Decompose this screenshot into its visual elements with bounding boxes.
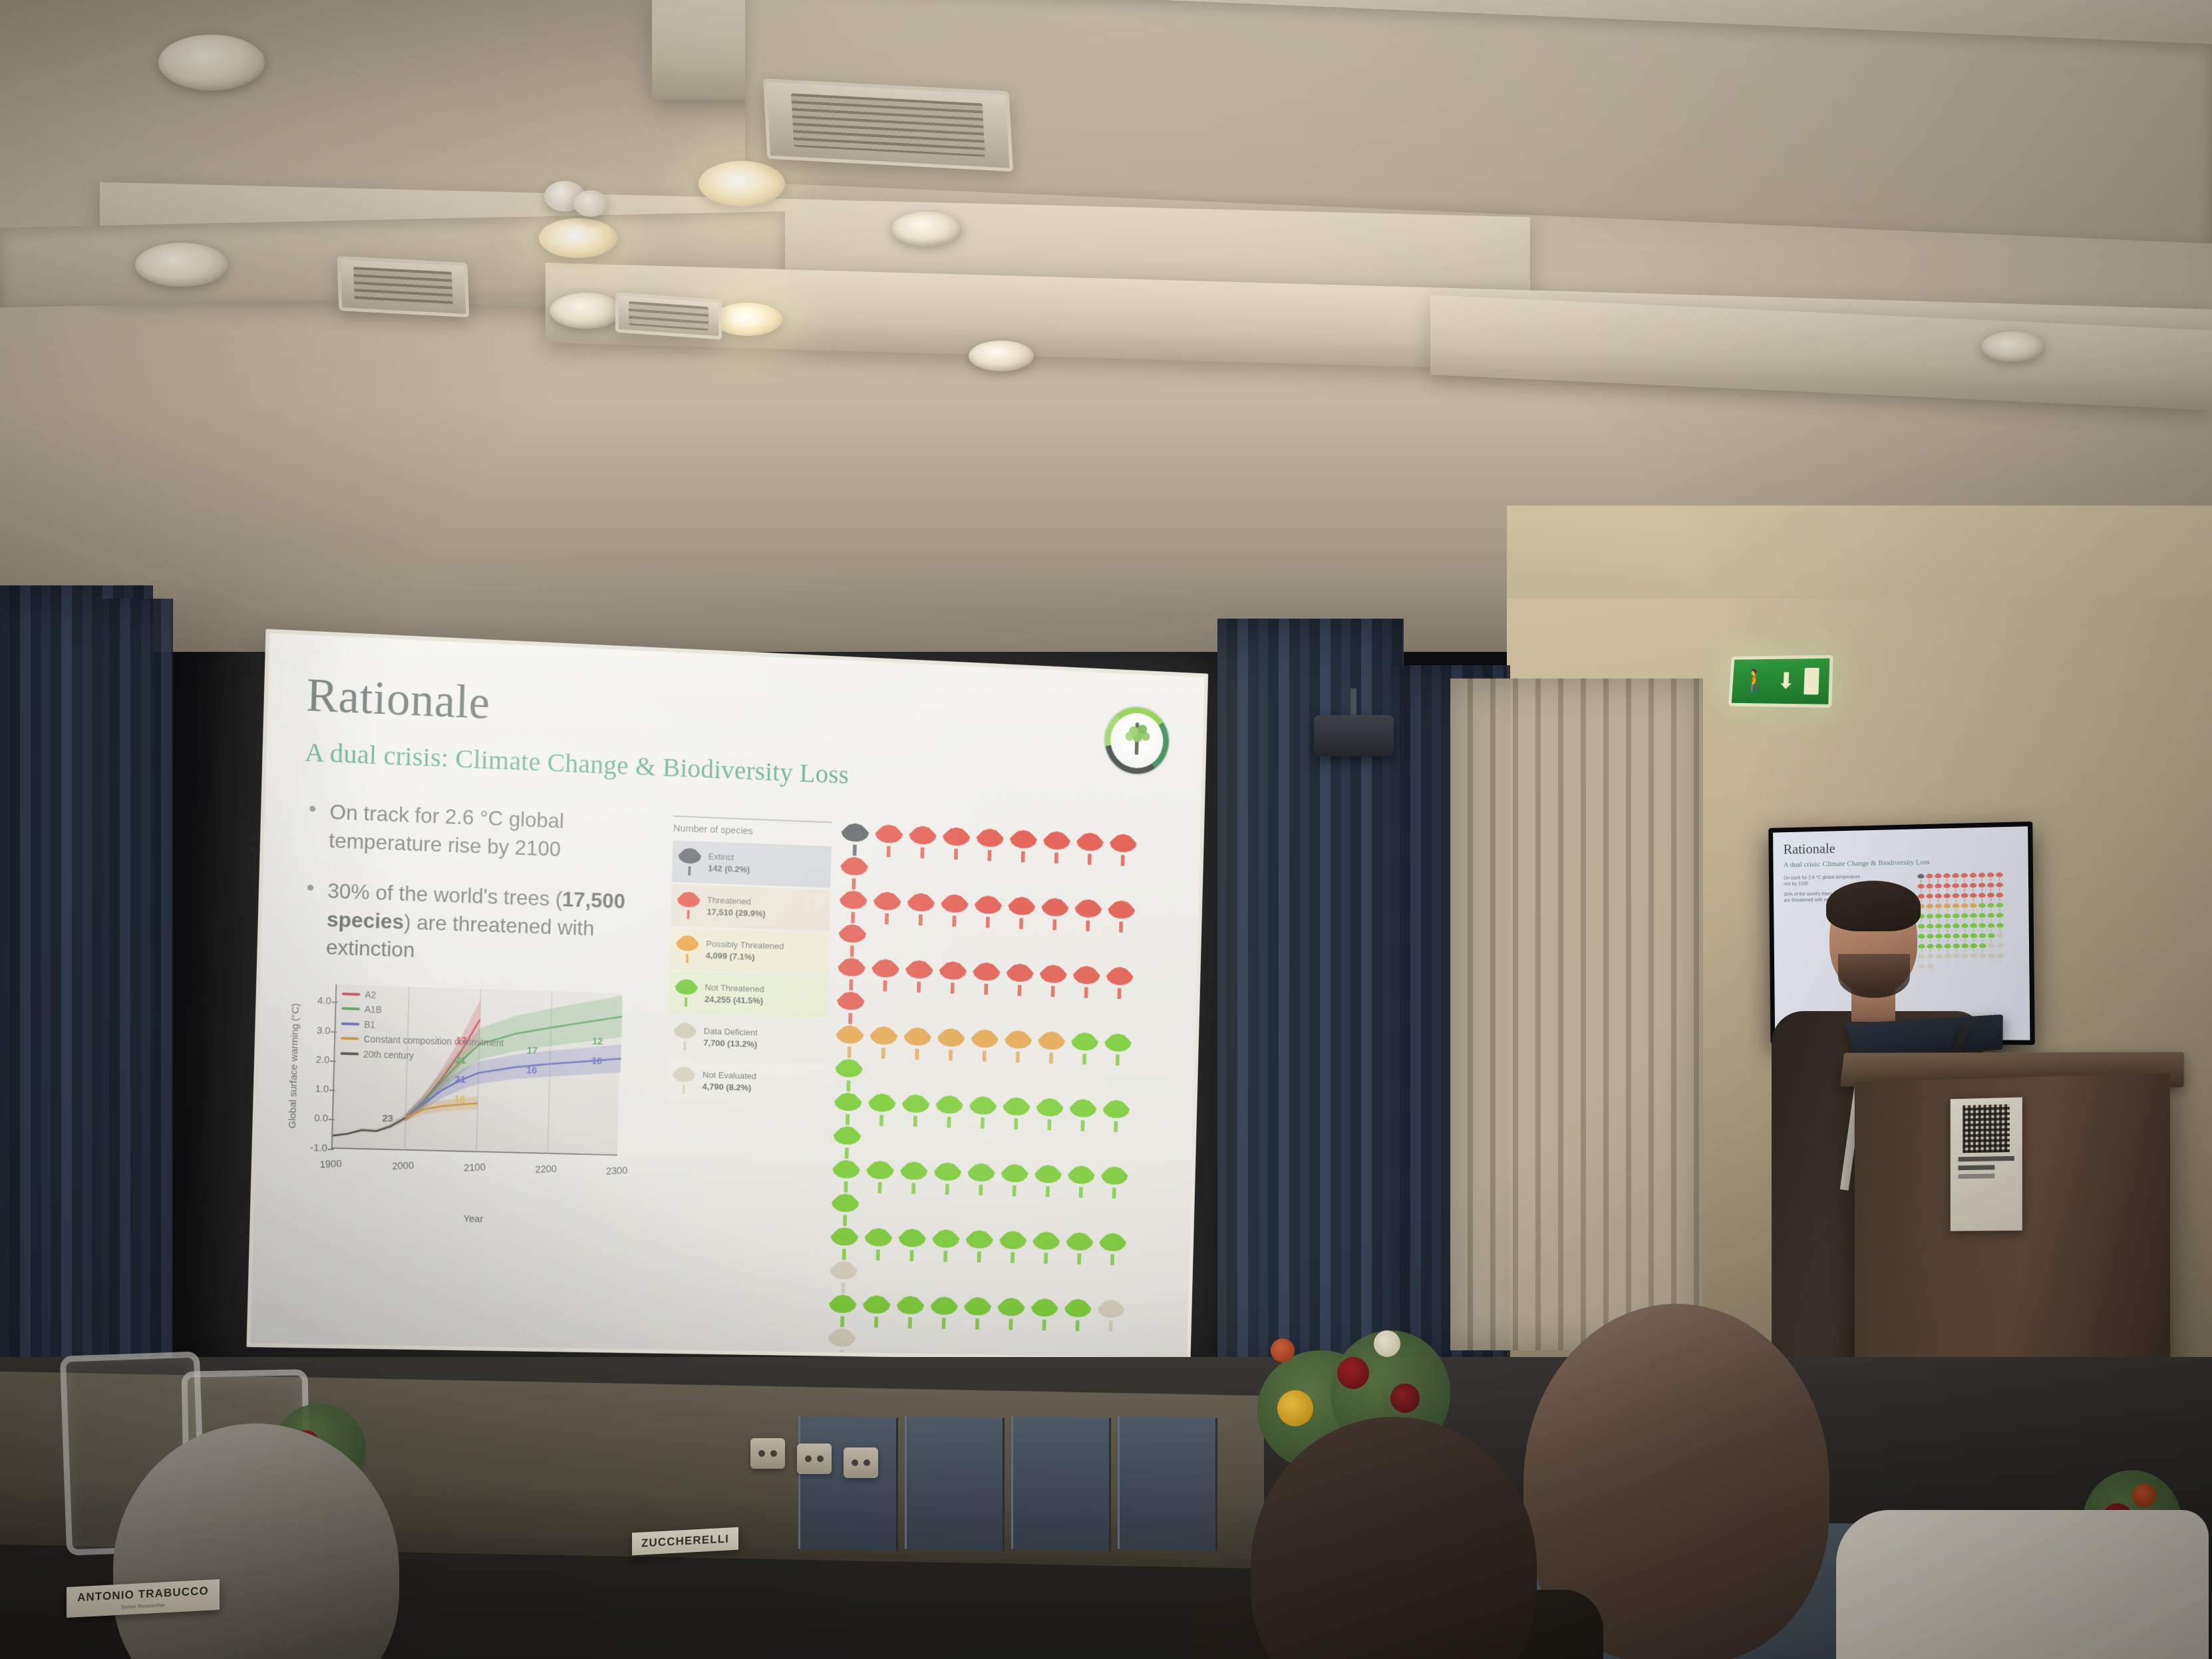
air-conditioning-vent bbox=[615, 292, 722, 339]
tree-icon bbox=[1988, 943, 1995, 952]
tree-icon bbox=[1039, 965, 1067, 998]
species-legend-text: Not Evaluated4,790 (8.2%) bbox=[702, 1069, 756, 1094]
tree-icon bbox=[1001, 1164, 1028, 1197]
tree-icon bbox=[899, 1161, 928, 1195]
tree-icon bbox=[963, 1297, 991, 1330]
tree-icon bbox=[896, 1296, 925, 1328]
species-tree-grid bbox=[822, 822, 1165, 1362]
tree-icon bbox=[1926, 873, 1933, 882]
tree-icon bbox=[866, 1161, 894, 1194]
smoke-detector bbox=[573, 190, 608, 217]
chart-y-tick: 1.0 bbox=[301, 1083, 329, 1095]
tree-icon bbox=[941, 894, 969, 927]
qr-code-icon bbox=[1963, 1104, 2010, 1153]
monitor-title: Rationale bbox=[1784, 836, 2018, 858]
slide-rationale: Rationale A dual crisis: Climate Change … bbox=[251, 633, 1205, 1358]
stage-panel bbox=[1118, 1416, 1217, 1551]
tree-icon bbox=[1987, 883, 1994, 891]
window-curtain bbox=[100, 599, 173, 1417]
tree-icon bbox=[907, 893, 935, 926]
presenter-beard bbox=[1838, 954, 1910, 998]
stage-panel bbox=[798, 1416, 898, 1551]
tree-icon bbox=[901, 1094, 930, 1128]
tree-icon bbox=[1070, 1032, 1098, 1065]
tree-icon bbox=[1996, 923, 2004, 931]
chart-x-tick: 2100 bbox=[464, 1161, 486, 1173]
tree-icon bbox=[1064, 1299, 1092, 1332]
tree-icon bbox=[672, 1066, 696, 1094]
ceiling-downlight bbox=[699, 161, 785, 206]
tree-icon bbox=[1030, 1298, 1058, 1331]
species-legend-row: Possibly Threatened4,099 (7.1%) bbox=[669, 928, 829, 975]
tree-icon bbox=[1996, 933, 2004, 941]
tree-icon bbox=[933, 1162, 961, 1195]
air-conditioning-vent bbox=[763, 78, 1013, 172]
species-legend-row: Not Evaluated4,790 (8.2%) bbox=[666, 1059, 826, 1105]
tree-icon bbox=[965, 1230, 993, 1263]
legend-label: 20th century bbox=[363, 1048, 414, 1062]
species-legend-row: Not Threatened24,255 (41.5%) bbox=[669, 971, 828, 1018]
legend-label: A2 bbox=[365, 989, 376, 1001]
tree-icon bbox=[678, 847, 702, 875]
species-legend-text: Possibly Threatened4,099 (7.1%) bbox=[706, 938, 784, 965]
ceiling-downlight bbox=[550, 293, 623, 329]
tree-icon bbox=[675, 979, 699, 1006]
projector-mount bbox=[1350, 688, 1356, 718]
legend-label: Constant composition commitment bbox=[363, 1034, 504, 1050]
tree-icon bbox=[677, 891, 701, 919]
tree-icon bbox=[935, 1095, 963, 1128]
tree-icon bbox=[972, 962, 1000, 995]
species-legend-text: Extinct142 (0.2%) bbox=[708, 851, 750, 876]
exit-door-icon bbox=[1804, 668, 1819, 694]
tree-icon bbox=[1996, 943, 2004, 952]
tree-icon bbox=[1109, 833, 1137, 867]
stage-panel bbox=[1011, 1416, 1111, 1551]
tree-icon bbox=[974, 895, 1002, 929]
power-outlet[interactable] bbox=[797, 1443, 832, 1474]
tree-icon bbox=[836, 991, 865, 1024]
emergency-exit-sign: 🚶 ⬇ bbox=[1728, 655, 1833, 708]
tree-icon bbox=[1069, 1099, 1097, 1131]
tree-icon bbox=[1987, 903, 1994, 911]
running-man-icon: 🚶 bbox=[1742, 670, 1769, 692]
species-legend-row: Data Deficient7,700 (13.2%) bbox=[667, 1015, 827, 1062]
chart-y-tick: 2.0 bbox=[302, 1054, 330, 1066]
podium-qr-poster bbox=[1951, 1097, 2022, 1231]
tree-icon bbox=[1108, 900, 1136, 933]
chart-uncertainty-band bbox=[405, 1094, 478, 1123]
tree-icon bbox=[1996, 882, 2003, 891]
tree-icon bbox=[1067, 1165, 1095, 1198]
chart-legend-item: Constant composition commitment bbox=[341, 1033, 504, 1050]
chart-model-count: 23 bbox=[382, 1113, 393, 1125]
chart-model-count: 17 bbox=[456, 1035, 467, 1047]
warming-projection-chart: Global surface warming (°C) A2A1BB1Const… bbox=[293, 983, 663, 1191]
legend-swatch bbox=[341, 1022, 360, 1026]
tree-icon bbox=[833, 1126, 862, 1159]
tree-icon bbox=[905, 960, 933, 993]
chart-plot-area: A2A1BB1Constant composition commitment20… bbox=[331, 984, 621, 1156]
tree-icon bbox=[1074, 899, 1102, 932]
tree-icon bbox=[830, 1227, 859, 1261]
tree-icon bbox=[1076, 832, 1104, 865]
chart-x-tick: 1900 bbox=[319, 1158, 342, 1170]
ceiling-downlight bbox=[969, 341, 1034, 371]
chart-model-count: 21 bbox=[455, 1054, 466, 1066]
chart-legend-item: A1B bbox=[341, 1003, 505, 1020]
air-conditioning-vent bbox=[337, 256, 470, 317]
legend-swatch bbox=[342, 992, 361, 996]
power-outlet[interactable] bbox=[844, 1447, 878, 1478]
stage-panel bbox=[905, 1416, 1005, 1551]
tree-icon bbox=[834, 1092, 862, 1126]
tree-icon bbox=[1961, 873, 1968, 881]
audience-member-body bbox=[1836, 1510, 2209, 1659]
tree-icon bbox=[1034, 1165, 1062, 1197]
chart-legend-item: B1 bbox=[341, 1018, 504, 1035]
chart-y-tick: 3.0 bbox=[303, 1024, 331, 1036]
tree-icon bbox=[1102, 1100, 1130, 1132]
chart-model-count: 21 bbox=[455, 1074, 466, 1086]
tree-icon bbox=[903, 1027, 932, 1060]
tree-icon bbox=[868, 1093, 896, 1126]
slide-bullet-list: On track for 2.6 °C global temperature r… bbox=[299, 797, 667, 973]
tree-icon bbox=[1036, 1098, 1064, 1130]
tree-icon bbox=[942, 827, 970, 860]
tree-icon bbox=[909, 826, 937, 859]
legend-label: A1B bbox=[365, 1004, 383, 1016]
tree-icon bbox=[939, 961, 967, 994]
tree-icon bbox=[673, 1022, 697, 1050]
tree-icon bbox=[831, 1193, 860, 1227]
tree-icon bbox=[1987, 872, 1994, 881]
chart-y-tick: 4.0 bbox=[303, 995, 331, 1007]
tree-icon bbox=[1996, 903, 2003, 911]
power-outlet[interactable] bbox=[750, 1438, 785, 1469]
tree-icon bbox=[1100, 1166, 1128, 1199]
tree-icon bbox=[967, 1163, 995, 1195]
tree-icon bbox=[1072, 965, 1100, 998]
chart-model-count: 16 bbox=[454, 1094, 466, 1106]
monitor-subtitle: A dual crisis: Climate Change & Biodiver… bbox=[1784, 856, 2017, 869]
chart-y-tick: -1.0 bbox=[299, 1141, 327, 1153]
tree-icon bbox=[1987, 893, 1994, 901]
conference-room: 🚶 ⬇ Rationale A dual crisis: Climate Cha… bbox=[0, 0, 2212, 1659]
tree-icon bbox=[1996, 953, 2004, 962]
species-legend-row: Threatened17,510 (29.9%) bbox=[671, 884, 830, 931]
legend-swatch bbox=[340, 1052, 359, 1055]
tree-icon bbox=[1987, 913, 1994, 921]
bullet-item: On track for 2.6 °C global temperature r… bbox=[302, 797, 667, 867]
tree-icon bbox=[834, 1058, 863, 1092]
tree-icon bbox=[864, 1228, 893, 1261]
tree-icon bbox=[1988, 953, 1995, 962]
tree-icon bbox=[875, 824, 903, 857]
tree-icon bbox=[898, 1229, 927, 1261]
tree-icon bbox=[1996, 872, 2003, 881]
tree-icon bbox=[675, 935, 699, 963]
chart-y-axis-label: Global surface warming (°C) bbox=[282, 982, 305, 1149]
tree-icon bbox=[1097, 1299, 1125, 1332]
tree-icon bbox=[1006, 963, 1034, 996]
chart-legend-item: 20th century bbox=[340, 1048, 504, 1064]
tree-icon bbox=[840, 857, 868, 890]
tree-icon bbox=[1042, 831, 1070, 864]
tree-icon bbox=[1943, 873, 1951, 882]
tree-icon bbox=[1099, 1233, 1127, 1265]
species-legend-text: Not Threatened24,255 (41.5%) bbox=[705, 982, 764, 1007]
tree-icon bbox=[837, 957, 866, 990]
tree-icon bbox=[1996, 913, 2003, 921]
tree-icon bbox=[1037, 1031, 1065, 1064]
tree-icon bbox=[829, 1261, 858, 1293]
chart-legend: A2A1BB1Constant composition commitment20… bbox=[340, 988, 505, 1068]
ceiling-downlight bbox=[539, 218, 617, 258]
tree-icon bbox=[871, 959, 899, 992]
tree-icon bbox=[937, 1028, 965, 1061]
tree-icon bbox=[869, 1026, 898, 1059]
tree-icon bbox=[1066, 1232, 1094, 1265]
placard-name: ZUCCHERELLI bbox=[639, 1532, 732, 1550]
ceiling-downlight bbox=[158, 35, 265, 90]
tree-icon bbox=[1987, 923, 1994, 931]
tree-icon bbox=[1978, 873, 1985, 881]
chart-x-tick: 2200 bbox=[535, 1163, 557, 1175]
tree-icon bbox=[1004, 1030, 1032, 1064]
chart-model-count: 10 bbox=[591, 1055, 603, 1067]
tree-icon bbox=[841, 823, 869, 856]
tree-icon bbox=[930, 1296, 958, 1329]
vertical-blinds bbox=[1450, 679, 1703, 1350]
tree-icon bbox=[1007, 897, 1035, 930]
tree-icon bbox=[828, 1328, 856, 1361]
tree-icon bbox=[1106, 967, 1134, 999]
tree-icon bbox=[1969, 873, 1976, 881]
ceiling-projector bbox=[1314, 715, 1394, 756]
ceiling-downlight bbox=[891, 212, 962, 246]
species-legend-text: Data Deficient7,700 (13.2%) bbox=[703, 1025, 758, 1050]
species-legend-text: Threatened17,510 (29.9%) bbox=[707, 894, 766, 920]
tree-icon bbox=[862, 1295, 891, 1328]
tree-icon bbox=[971, 1029, 999, 1062]
legend-swatch bbox=[341, 1037, 359, 1040]
tree-icon bbox=[1104, 1033, 1132, 1066]
tree-icon bbox=[828, 1294, 857, 1327]
tree-icon bbox=[969, 1096, 997, 1129]
chart-model-count: 17 bbox=[527, 1045, 538, 1057]
chart-x-tick: 2000 bbox=[392, 1159, 414, 1171]
chart-x-tick: 2300 bbox=[606, 1165, 628, 1177]
tree-icon bbox=[1935, 873, 1942, 882]
species-legend-panel: Number of species Extinct142 (0.2%)Threa… bbox=[657, 812, 832, 1362]
tree-icon bbox=[873, 891, 901, 925]
presenter-hair bbox=[1826, 881, 1921, 931]
projection-screen: Rationale A dual crisis: Climate Change … bbox=[246, 629, 1208, 1362]
tree-icon bbox=[1009, 829, 1037, 863]
tree-icon bbox=[1003, 1097, 1030, 1130]
ceiling-downlight bbox=[713, 303, 782, 336]
tree-icon bbox=[1917, 873, 1925, 882]
species-legend-row: Extinct142 (0.2%) bbox=[672, 840, 832, 888]
ceiling-downlight bbox=[1981, 331, 2045, 362]
tree-icon bbox=[931, 1229, 959, 1262]
tree-icon bbox=[836, 1025, 864, 1058]
tree-icon bbox=[1032, 1231, 1060, 1264]
tree-icon bbox=[839, 890, 868, 923]
chart-series-line bbox=[333, 1116, 405, 1137]
chart-x-axis-label: Year bbox=[463, 1213, 483, 1225]
legend-swatch bbox=[341, 1007, 360, 1010]
tree-icon bbox=[832, 1159, 860, 1193]
down-arrow-icon: ⬇ bbox=[1776, 670, 1796, 692]
chart-model-count: 16 bbox=[526, 1064, 538, 1076]
tree-icon bbox=[1988, 933, 1995, 941]
species-legend-header: Number of species bbox=[673, 816, 832, 840]
tree-icon bbox=[1952, 873, 1959, 881]
tree-icon bbox=[1996, 893, 2003, 901]
ceiling-downlight bbox=[135, 243, 228, 287]
tree-icon bbox=[1041, 897, 1069, 931]
chart-model-count: 12 bbox=[592, 1036, 603, 1048]
chart-y-tick: 0.0 bbox=[300, 1112, 328, 1124]
legend-label: B1 bbox=[364, 1019, 375, 1031]
tree-icon bbox=[838, 924, 867, 957]
tree-icon bbox=[997, 1298, 1025, 1330]
bullet-item: 30% of the world's trees (17,500 species… bbox=[299, 876, 665, 973]
tree-icon bbox=[976, 828, 1004, 861]
tree-icon bbox=[999, 1231, 1027, 1263]
